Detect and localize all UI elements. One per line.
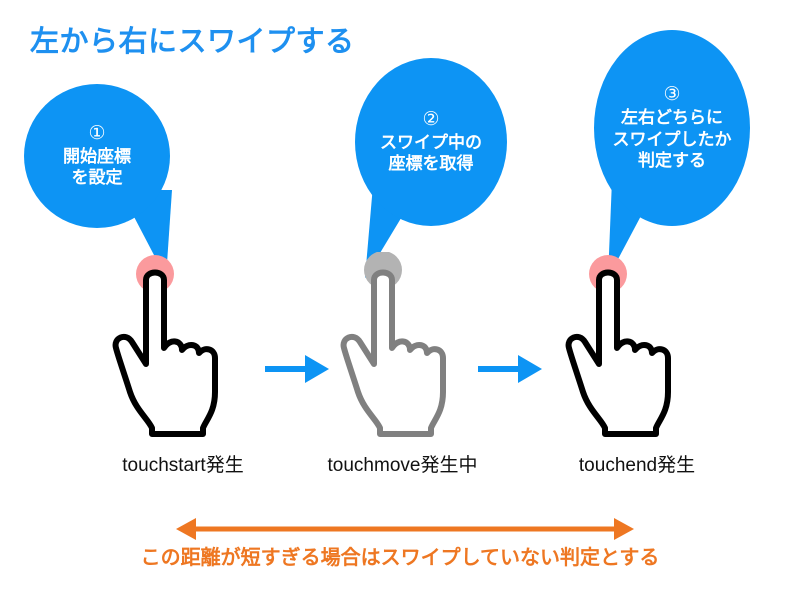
double-headed-arrow-icon bbox=[176, 514, 634, 544]
arrow-right-icon-1 bbox=[265, 352, 331, 386]
bubble-text-3: 左右どちらに スワイプしたか 判定する bbox=[613, 107, 732, 172]
pointing-hand-icon-1 bbox=[110, 252, 240, 437]
event-label-touchend: touchend発生 bbox=[557, 456, 717, 475]
pointing-hand-icon-3 bbox=[563, 252, 693, 437]
bubble-text-1: 開始座標 を設定 bbox=[63, 146, 131, 190]
diagram-canvas: 左から右にスワイプする ① 開始座標 を設定 ② スワイプ中の 座標を取得 ③ … bbox=[0, 0, 800, 600]
event-label-touchmove: touchmove発生中 bbox=[310, 456, 495, 475]
event-label-touchstart: touchstart発生 bbox=[103, 456, 263, 475]
bubble-number-1: ① bbox=[88, 123, 105, 145]
speech-bubble-2: ② スワイプ中の 座標を取得 bbox=[355, 58, 507, 226]
arrow-right-icon-2 bbox=[478, 352, 544, 386]
speech-bubble-3: ③ 左右どちらに スワイプしたか 判定する bbox=[594, 30, 750, 226]
bubble-text-2: スワイプ中の 座標を取得 bbox=[380, 132, 482, 176]
bubble-number-2: ② bbox=[422, 109, 439, 131]
speech-bubble-1: ① 開始座標 を設定 bbox=[24, 84, 170, 228]
pointing-hand-icon-2 bbox=[338, 252, 468, 437]
bubble-number-3: ③ bbox=[663, 84, 680, 106]
measure-caption: この距離が短すぎる場合はスワイプしていない判定とする bbox=[0, 546, 800, 570]
page-title: 左から右にスワイプする bbox=[30, 25, 355, 60]
